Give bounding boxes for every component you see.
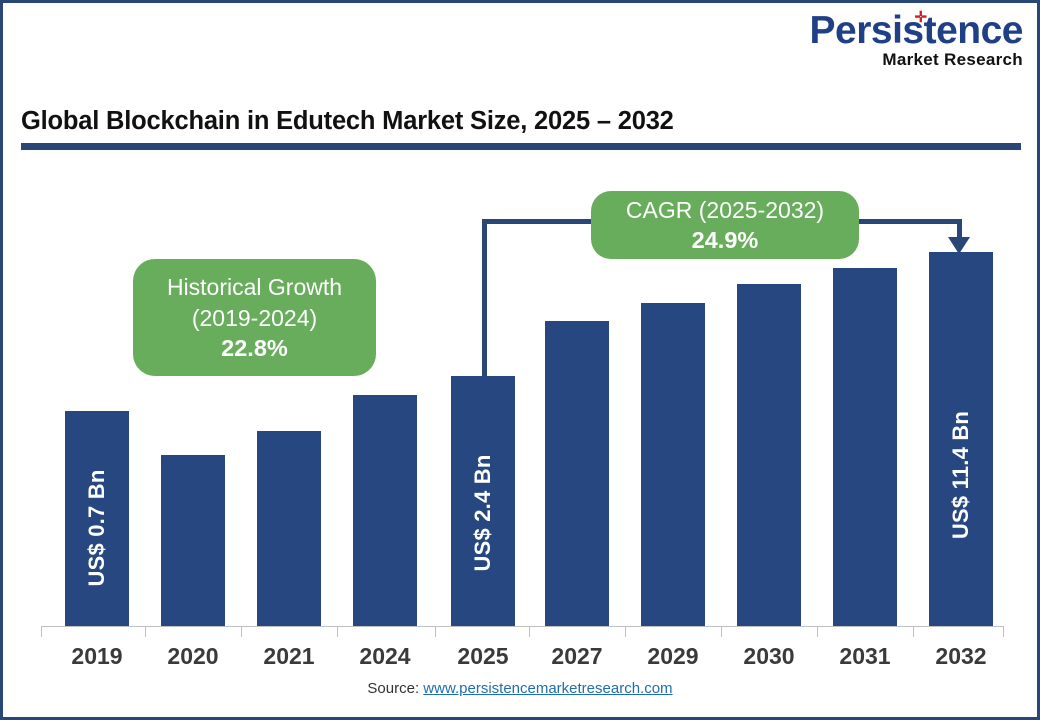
chart-frame: Persistence ✛ Market Research Global Blo… (0, 0, 1040, 720)
x-tick-edge-0 (41, 626, 42, 637)
x-tick-label-2024: 2024 (335, 643, 435, 670)
bar-value-label-2032: US$ 11.4 Bn (948, 375, 974, 575)
company-logo: Persistence ✛ Market Research (810, 11, 1023, 68)
title-block: Global Blockchain in Edutech Market Size… (21, 107, 1021, 150)
x-tick-2027 (529, 626, 530, 637)
x-tick-label-2031: 2031 (815, 643, 915, 670)
x-tick-2030 (721, 626, 722, 637)
historical-callout-value: 22.8% (221, 334, 288, 363)
x-tick-label-2029: 2029 (623, 643, 723, 670)
x-tick-label-2027: 2027 (527, 643, 627, 670)
historical-callout-line1: Historical Growth (167, 272, 342, 303)
x-tick-label-2021: 2021 (239, 643, 339, 670)
bar-2030 (737, 284, 801, 626)
chart-plot-area: US$ 0.7 BnUS$ 2.4 BnUS$ 11.4 Bn 20192020… (3, 163, 1037, 663)
bar-2020 (161, 455, 225, 626)
cagr-callout-line1: CAGR (2025-2032) (626, 195, 824, 226)
logo-tagline: Market Research (810, 51, 1023, 68)
x-tick-2031 (817, 626, 818, 637)
source-prefix: Source: (367, 680, 423, 697)
cagr-callout: CAGR (2025-2032) 24.9% (591, 191, 859, 259)
cagr-callout-value: 24.9% (692, 226, 759, 255)
cagr-connector-vertical-left (482, 219, 487, 379)
logo-cross-icon: ✛ (915, 12, 926, 23)
title-divider (21, 143, 1021, 150)
historical-growth-callout: Historical Growth (2019-2024) 22.8% (133, 259, 376, 376)
source-link[interactable]: www.persistencemarketresearch.com (423, 680, 672, 697)
header-bar: Persistence ✛ Market Research (3, 3, 1037, 95)
bar-2021 (257, 431, 321, 626)
x-tick-label-2030: 2030 (719, 643, 819, 670)
x-tick-2032 (913, 626, 914, 637)
x-tick-label-2020: 2020 (143, 643, 243, 670)
x-tick-2025 (435, 626, 436, 637)
page-title: Global Blockchain in Edutech Market Size… (21, 107, 1021, 136)
x-tick-label-2025: 2025 (433, 643, 533, 670)
logo-wordmark: Persistence ✛ (810, 11, 1023, 50)
bar-2031 (833, 268, 897, 626)
x-tick-2021 (241, 626, 242, 637)
x-tick-edge-1 (1003, 626, 1004, 637)
bar-2024 (353, 395, 417, 626)
bar-value-label-2025: US$ 2.4 Bn (470, 413, 496, 613)
x-axis-line (41, 626, 1003, 627)
bar-2027 (545, 321, 609, 626)
x-tick-2024 (337, 626, 338, 637)
x-tick-2020 (145, 626, 146, 637)
bar-value-label-2019: US$ 0.7 Bn (84, 428, 110, 628)
source-note: Source: www.persistencemarketresearch.co… (3, 680, 1037, 697)
x-tick-2029 (625, 626, 626, 637)
bar-2029 (641, 303, 705, 626)
x-tick-label-2032: 2032 (911, 643, 1011, 670)
x-tick-label-2019: 2019 (47, 643, 147, 670)
historical-callout-line2: (2019-2024) (192, 303, 317, 334)
